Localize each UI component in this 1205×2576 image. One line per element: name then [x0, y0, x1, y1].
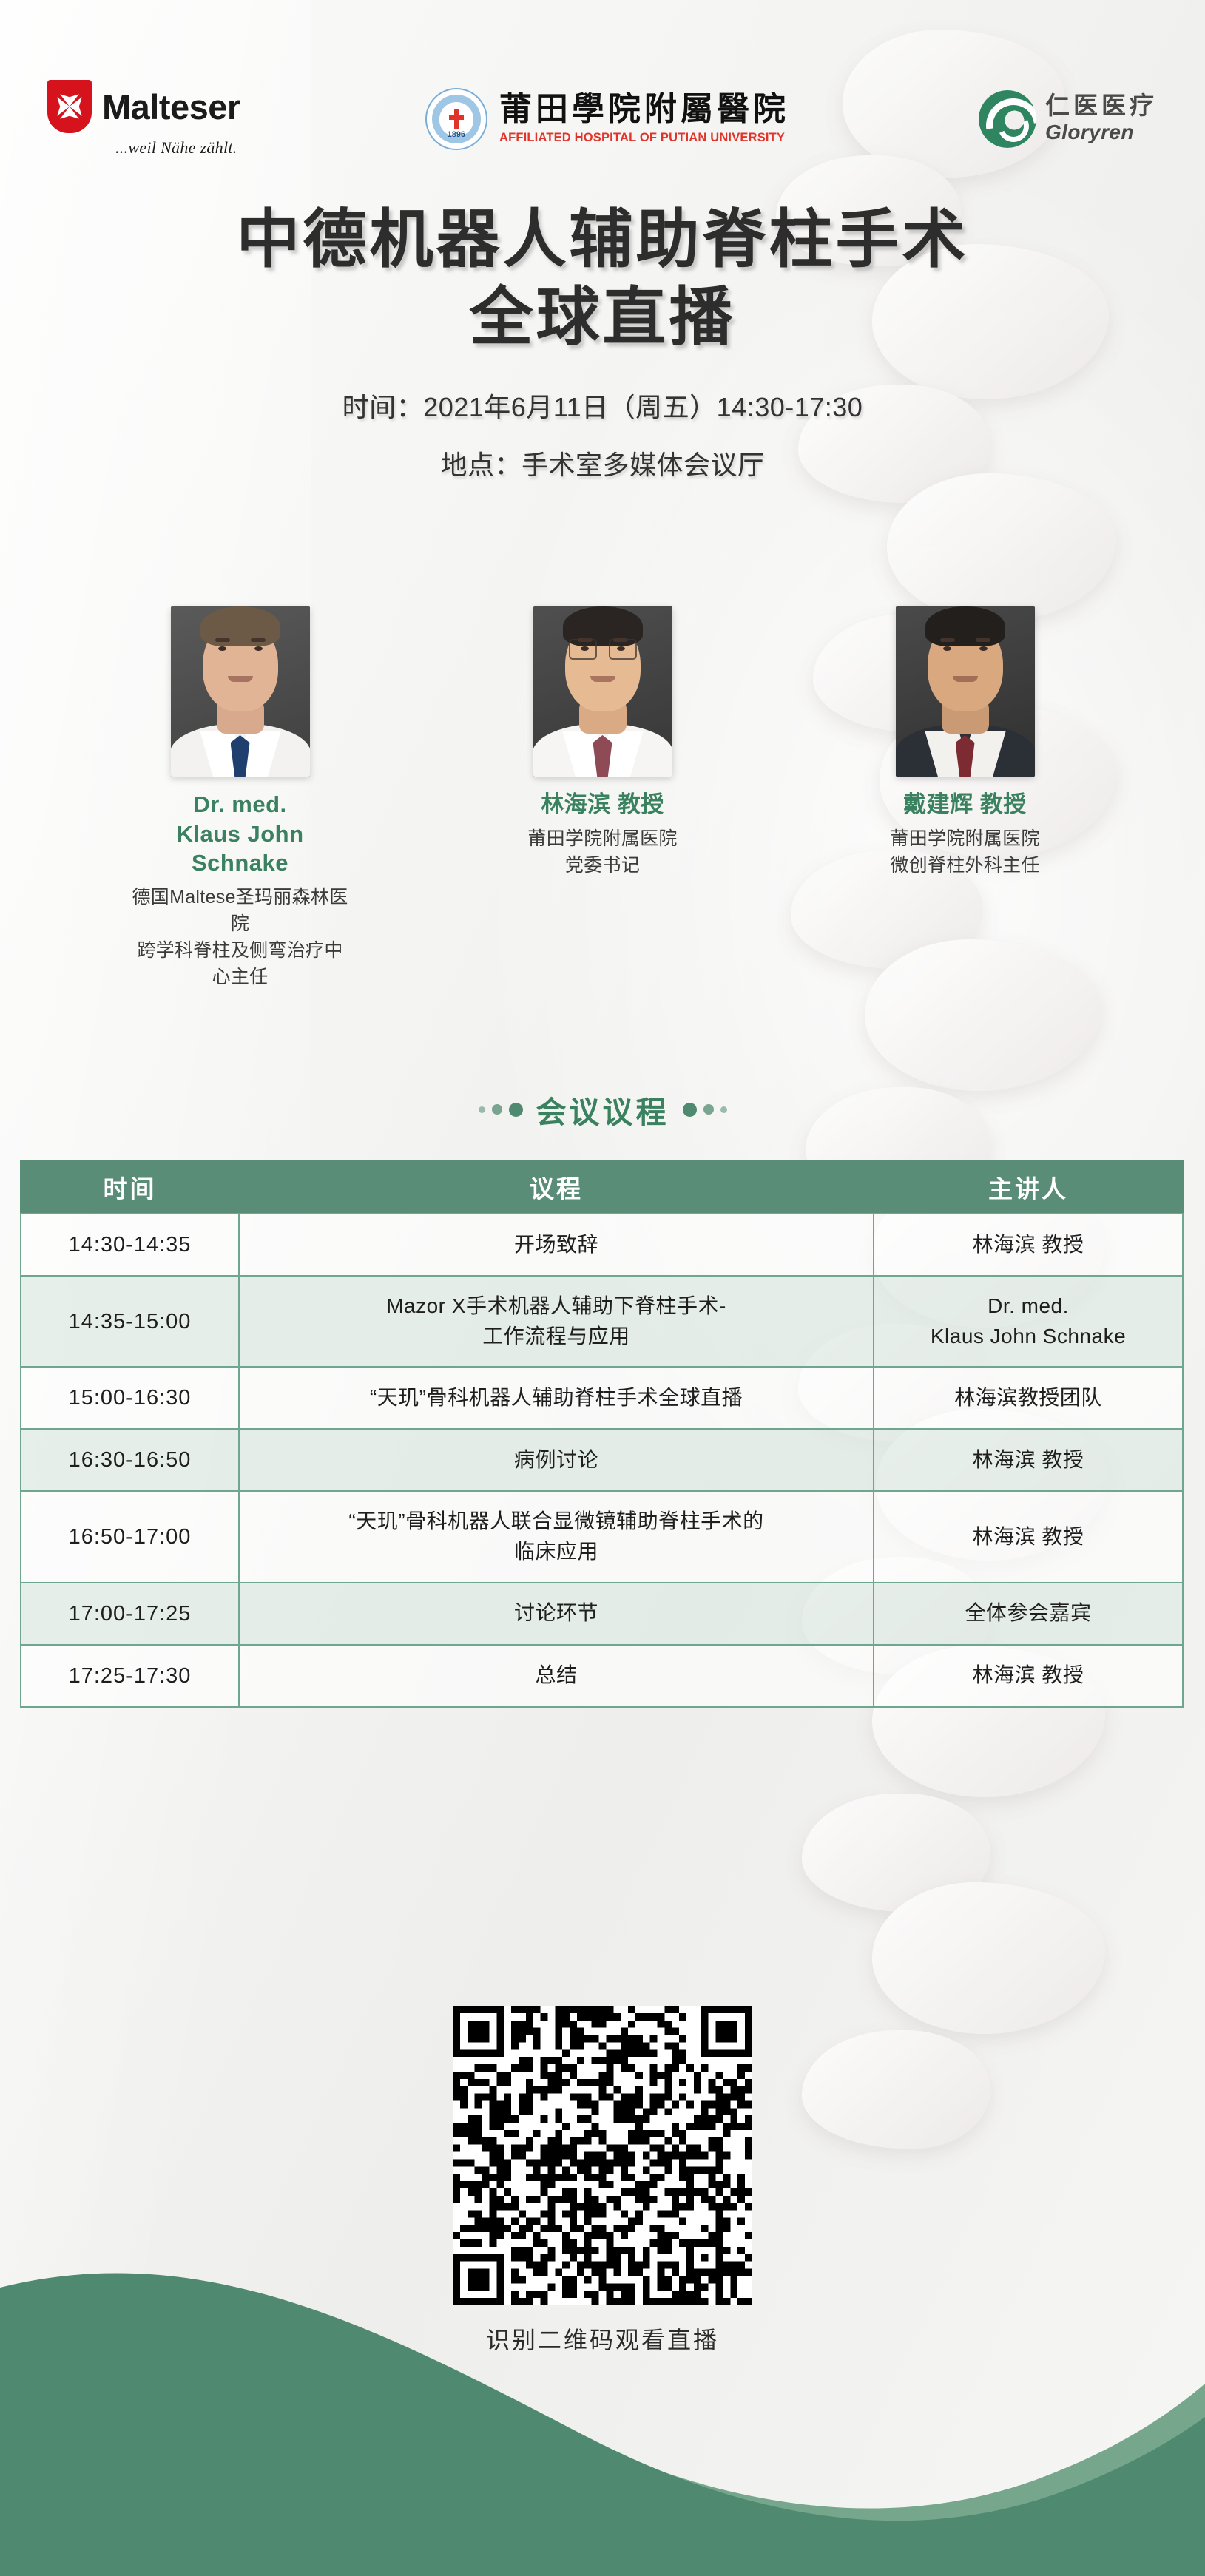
speaker-affiliation-line-1: 莆田学院附属医院 [492, 825, 714, 852]
table-row: 16:30-16:50 病例讨论 林海滨 教授 [21, 1429, 1183, 1491]
table-row: 14:35-15:00 Mazor X手术机器人辅助下脊柱手术- 工作流程与应用… [21, 1276, 1183, 1367]
cell-speaker-line-2: Klaus John Schnake [885, 1322, 1172, 1352]
cell-topic-line-2: 工作流程与应用 [250, 1322, 863, 1352]
putian-seal-icon: 1896 [425, 88, 487, 150]
agenda-heading-label: 会议议程 [536, 1087, 669, 1132]
glasses-icon [569, 639, 637, 658]
speaker-photo [896, 606, 1035, 777]
speaker-card: 林海滨 教授 莆田学院附属医院 党委书记 [492, 606, 714, 990]
cell-topic: Mazor X手术机器人辅助下脊柱手术- 工作流程与应用 [239, 1276, 874, 1367]
table-row: 15:00-16:30 “天玑”骨科机器人辅助脊柱手术全球直播 林海滨教授团队 [21, 1367, 1183, 1429]
page-title-line-1: 中德机器人辅助脊柱手术 [0, 201, 1205, 279]
malteser-wordmark: Malteser [102, 89, 240, 124]
speaker-photo [171, 606, 310, 777]
event-place: 地点：手术室多媒体会议厅 [0, 444, 1205, 482]
cell-time: 16:30-16:50 [21, 1429, 239, 1491]
page-title-line-2: 全球直播 [0, 279, 1205, 356]
cell-speaker: 全体参会嘉宾 [874, 1583, 1183, 1645]
speaker-affiliation-line-2: 微创脊柱外科主任 [854, 852, 1076, 879]
speaker-card: Dr. med. Klaus John Schnake 德国Maltese圣玛丽… [129, 606, 351, 990]
cell-speaker-line-1: Dr. med. [885, 1291, 1172, 1322]
title-block: 中德机器人辅助脊柱手术 全球直播 时间：2021年6月11日（周五）14:30-… [0, 201, 1205, 482]
cell-speaker: 林海滨教授团队 [874, 1367, 1183, 1429]
cell-topic: 讨论环节 [239, 1583, 874, 1645]
cell-topic: 开场致辞 [239, 1214, 874, 1276]
qr-code[interactable] [453, 2006, 752, 2305]
column-header-agenda: 议程 [239, 1160, 874, 1214]
speakers-section: Dr. med. Klaus John Schnake 德国Maltese圣玛丽… [0, 606, 1205, 990]
cell-time: 17:00-17:25 [21, 1583, 239, 1645]
putian-name-cn: 莆田學院附屬醫院 [499, 92, 794, 126]
cell-speaker: 林海滨 教授 [874, 1214, 1183, 1276]
column-header-speaker: 主讲人 [874, 1160, 1183, 1214]
putian-seal-year: 1896 [427, 130, 486, 139]
logo-gloryren: 仁医医疗 Gloryren [979, 90, 1158, 148]
speaker-name: Dr. med. Klaus John Schnake [129, 790, 351, 878]
speaker-card: 戴建辉 教授 莆田学院附属医院 微创脊柱外科主任 [854, 606, 1076, 990]
cell-topic-line-1: “天玑”骨科机器人联合显微镜辅助脊柱手术的 [250, 1507, 863, 1537]
event-time: 时间：2021年6月11日（周五）14:30-17:30 [0, 386, 1205, 425]
gloryren-name-en: Gloryren [1045, 121, 1158, 144]
cell-speaker: 林海滨 教授 [874, 1429, 1183, 1491]
speaker-name-line-1: Dr. med. [129, 790, 351, 819]
logo-bar: Malteser ...weil Nähe zählt. 1896 莆田學院附屬… [0, 80, 1205, 158]
malteser-shield-icon [47, 80, 92, 133]
putian-name-en: AFFILIATED HOSPITAL OF PUTIAN UNIVERSITY [499, 130, 785, 145]
decorative-dots-left [479, 1103, 523, 1117]
cell-time: 14:35-15:00 [21, 1276, 239, 1367]
table-row: 17:25-17:30 总结 林海滨 教授 [21, 1645, 1183, 1707]
cell-topic-line-2: 临床应用 [250, 1537, 863, 1567]
table-header-row: 时间 议程 主讲人 [21, 1160, 1183, 1214]
logo-putian-hospital: 1896 莆田學院附屬醫院 AFFILIATED HOSPITAL OF PUT… [425, 88, 794, 150]
cell-time: 14:30-14:35 [21, 1214, 239, 1276]
gloryren-swirl-icon [979, 90, 1036, 148]
table-row: 17:00-17:25 讨论环节 全体参会嘉宾 [21, 1583, 1183, 1645]
cell-speaker: 林海滨 教授 [874, 1645, 1183, 1707]
agenda-heading: 会议议程 [0, 1087, 1205, 1132]
cell-topic: 病例讨论 [239, 1429, 874, 1491]
cell-time: 17:25-17:30 [21, 1645, 239, 1707]
speaker-name-line-2: Klaus John Schnake [129, 819, 351, 878]
speaker-affiliation: 德国Maltese圣玛丽森林医院 跨学科脊柱及侧弯治疗中心主任 [129, 884, 351, 990]
qr-caption: 识别二维码观看直播 [0, 2322, 1205, 2356]
speaker-affiliation-line-1: 莆田学院附属医院 [854, 825, 1076, 852]
table-row: 16:50-17:00 “天玑”骨科机器人联合显微镜辅助脊柱手术的 临床应用 林… [21, 1491, 1183, 1582]
speaker-name: 戴建辉 教授 [854, 790, 1076, 819]
agenda-table: 时间 议程 主讲人 14:30-14:35 开场致辞 林海滨 教授 14:35-… [20, 1160, 1184, 1708]
cell-speaker: 林海滨 教授 [874, 1491, 1183, 1582]
speaker-name: 林海滨 教授 [492, 790, 714, 819]
cell-time: 15:00-16:30 [21, 1367, 239, 1429]
qr-section: 识别二维码观看直播 [0, 2006, 1205, 2356]
poster-root: Malteser ...weil Nähe zählt. 1896 莆田學院附屬… [0, 0, 1205, 2576]
logo-malteser: Malteser ...weil Nähe zählt. [47, 80, 240, 158]
cell-time: 16:50-17:00 [21, 1491, 239, 1582]
speaker-affiliation-line-2: 党委书记 [492, 852, 714, 879]
cell-topic: “天玑”骨科机器人联合显微镜辅助脊柱手术的 临床应用 [239, 1491, 874, 1582]
speaker-affiliation: 莆田学院附属医院 微创脊柱外科主任 [854, 825, 1076, 879]
speaker-affiliation-line-1: 德国Maltese圣玛丽森林医院 [129, 884, 351, 937]
cell-topic: 总结 [239, 1645, 874, 1707]
table-row: 14:30-14:35 开场致辞 林海滨 教授 [21, 1214, 1183, 1276]
gloryren-name-cn: 仁医医疗 [1045, 93, 1158, 119]
malteser-tagline: ...weil Nähe zählt. [115, 138, 237, 158]
speaker-affiliation: 莆田学院附属医院 党委书记 [492, 825, 714, 879]
column-header-time: 时间 [21, 1160, 239, 1214]
cell-topic: “天玑”骨科机器人辅助脊柱手术全球直播 [239, 1367, 874, 1429]
cell-topic-line-1: Mazor X手术机器人辅助下脊柱手术- [250, 1291, 863, 1322]
cell-speaker: Dr. med. Klaus John Schnake [874, 1276, 1183, 1367]
speaker-affiliation-line-2: 跨学科脊柱及侧弯治疗中心主任 [129, 937, 351, 990]
decorative-dots-right [683, 1103, 727, 1117]
speaker-photo [533, 606, 672, 777]
